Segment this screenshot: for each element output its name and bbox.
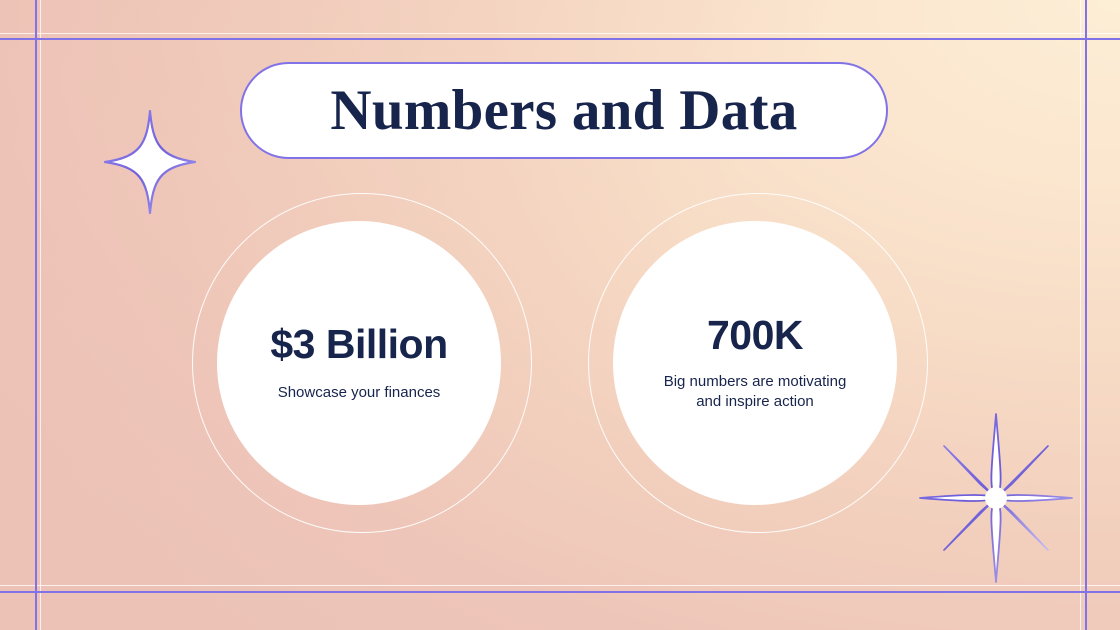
stat-card-reach: 700K Big numbers are motivating and insp…: [588, 193, 928, 533]
stat-circle: $3 Billion Showcase your finances: [217, 221, 501, 505]
frame-line-bottom: [0, 591, 1120, 593]
frame-inner-line-top: [0, 33, 1120, 34]
four-point-sparkle-icon: [104, 110, 196, 214]
stat-value: $3 Billion: [270, 323, 447, 366]
stat-card-finances: $3 Billion Showcase your finances: [192, 193, 532, 533]
frame-inner-line-right: [1080, 0, 1081, 630]
frame-line-left: [35, 0, 37, 630]
page-title: Numbers and Data: [330, 82, 797, 139]
title-pill: Numbers and Data: [240, 62, 888, 159]
frame-line-top: [0, 38, 1120, 40]
stat-label: Showcase your finances: [278, 383, 441, 403]
slide-canvas: Numbers and Data $3 Billion Showcase you…: [0, 0, 1120, 630]
stat-circle: 700K Big numbers are motivating and insp…: [613, 221, 897, 505]
eight-point-star-icon: [918, 412, 1074, 584]
stat-value: 700K: [707, 314, 803, 357]
frame-line-right: [1085, 0, 1087, 630]
frame-inner-line-bottom: [0, 585, 1120, 586]
frame-inner-line-left: [40, 0, 41, 630]
stat-label: Big numbers are motivating and inspire a…: [655, 372, 855, 412]
